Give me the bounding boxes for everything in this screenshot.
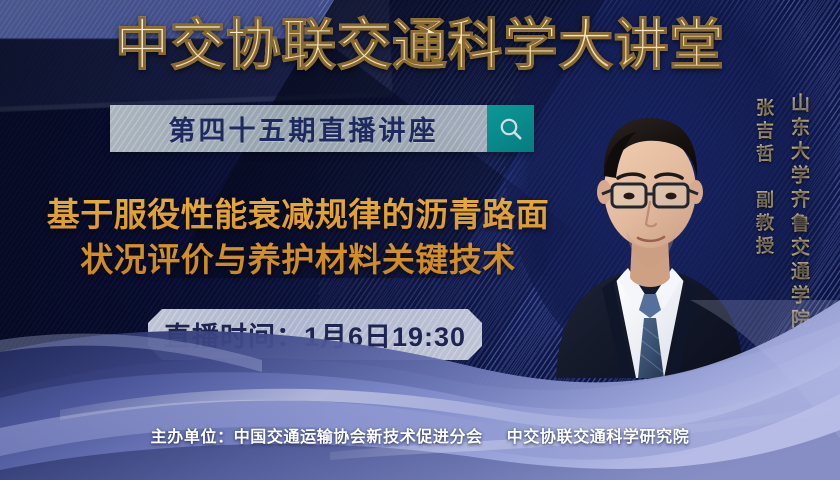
lecture-title-line-2: 状况评价与养护材料关键技术 — [18, 237, 578, 282]
organizer-name-1: 中国交通运输协会新技术促进分会 — [234, 429, 483, 446]
page-title: 中交协联交通科学大讲堂 — [4, 12, 836, 78]
episode-search-bar[interactable]: 第四十五期直播讲座 — [110, 105, 534, 152]
speaker-name-title: 张吉哲 副教授 — [751, 98, 777, 259]
organizer-label: 主办单位： — [151, 429, 234, 446]
livestream-time-badge: 直播时间：1月6日19:30 — [148, 309, 482, 360]
organizer-name-2: 中交协联交通科学研究院 — [507, 429, 690, 446]
lecture-title: 基于服役性能衰减规律的沥青路面 状况评价与养护材料关键技术 — [18, 192, 578, 282]
search-icon — [498, 116, 524, 142]
speaker-affiliation: 山东大学齐鲁交通学院 — [785, 93, 812, 333]
organizer-footer: 主办单位：中国交通运输协会新技术促进分会中交协联交通科学研究院 — [0, 423, 840, 447]
search-input[interactable]: 第四十五期直播讲座 — [110, 105, 487, 152]
search-button[interactable] — [487, 105, 534, 152]
search-input-value: 第四十五期直播讲座 — [135, 109, 463, 148]
lecture-title-line-1: 基于服役性能衰减规律的沥青路面 — [18, 192, 578, 237]
livestream-time-text: 直播时间：1月6日19:30 — [164, 315, 466, 354]
speaker-portrait — [552, 78, 748, 378]
livestream-poster: 中交协联交通科学大讲堂 第四十五期直播讲座 基于服役性能衰减规律的沥青路面 状况… — [0, 0, 840, 480]
